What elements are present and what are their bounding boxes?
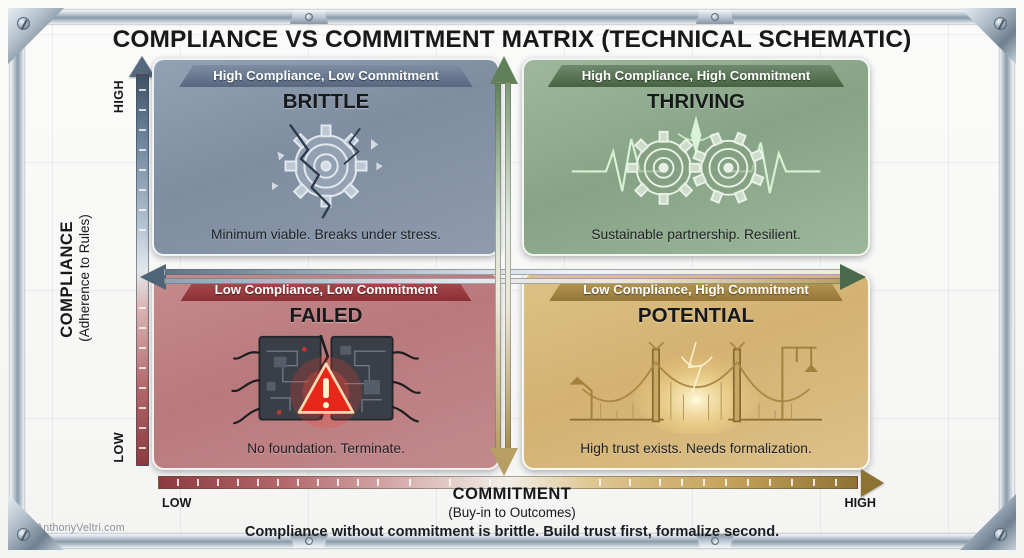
y-axis-title-main: COMPLIANCE <box>58 214 77 344</box>
matrix-schematic-poster: COMPLIANCE VS COMMITMENT MATRIX (TECHNIC… <box>0 0 1024 558</box>
y-axis-title-sub: (Adherence to Rules) <box>77 214 92 342</box>
frame-bar-left <box>10 22 24 536</box>
frame-tab-top-right <box>696 10 734 24</box>
quadrant-thriving[interactable]: High Compliance, High Commitment THRIVIN… <box>522 58 870 256</box>
vertical-axis-double-arrow <box>494 56 514 476</box>
x-axis-title: COMMITMENT (Buy-in to Outcomes) <box>0 485 1024 520</box>
bolt-icon <box>305 13 313 21</box>
arrowhead-up-icon <box>490 56 518 84</box>
quadrant-title-failed: FAILED <box>154 304 498 328</box>
meshed-gears-heartbeat-icon <box>524 112 868 220</box>
y-axis-title: COMPLIANCE (Adherence to Rules) <box>58 214 92 344</box>
quadrant-title-potential: POTENTIAL <box>524 304 868 328</box>
footer-note: Compliance without commitment is brittle… <box>0 524 1024 540</box>
quadrant-failed[interactable]: Low Compliance, Low Commitment FAILED <box>152 272 500 470</box>
quadrant-caption-potential: High trust exists. Needs formalization. <box>524 441 868 456</box>
quadrant-caption-thriving: Sustainable partnership. Resilient. <box>524 227 868 242</box>
arrowhead-right-icon <box>840 264 866 290</box>
quadrant-banner-brittle: High Compliance, Low Commitment <box>179 65 473 87</box>
quadrant-brittle[interactable]: High Compliance, Low Commitment BRITTLE <box>152 58 500 256</box>
y-axis-low-label: LOW <box>112 432 126 463</box>
quadrant-caption-brittle: Minimum viable. Breaks under stress. <box>154 227 498 242</box>
broken-circuit-warning-icon <box>154 326 498 434</box>
page-title: COMPLIANCE VS COMMITMENT MATRIX (TECHNIC… <box>0 26 1024 54</box>
frame-bar-top <box>22 10 1002 24</box>
quadrant-potential[interactable]: Low Compliance, High Commitment POTENTIA… <box>522 272 870 470</box>
arrowhead-left-icon <box>140 264 166 290</box>
quadrant-title-brittle: BRITTLE <box>154 90 498 114</box>
quadrant-title-thriving: THRIVING <box>524 90 868 114</box>
cracked-gear-icon <box>154 112 498 220</box>
watermark: AnthonyVeltri.com <box>36 522 125 534</box>
x-axis-title-main: COMMITMENT <box>0 485 1024 504</box>
quadrant-caption-failed: No foundation. Terminate. <box>154 441 498 456</box>
bolt-icon <box>711 13 719 21</box>
bridge-under-construction-icon <box>524 326 868 434</box>
frame-tab-top-left <box>290 10 328 24</box>
y-axis-high-label: HIGH <box>112 80 126 113</box>
quadrant-banner-thriving: High Compliance, High Commitment <box>548 65 845 87</box>
arrowhead-down-icon <box>490 448 518 476</box>
x-axis-title-sub: (Buy-in to Outcomes) <box>0 505 1024 520</box>
frame-bar-right <box>1000 22 1014 536</box>
